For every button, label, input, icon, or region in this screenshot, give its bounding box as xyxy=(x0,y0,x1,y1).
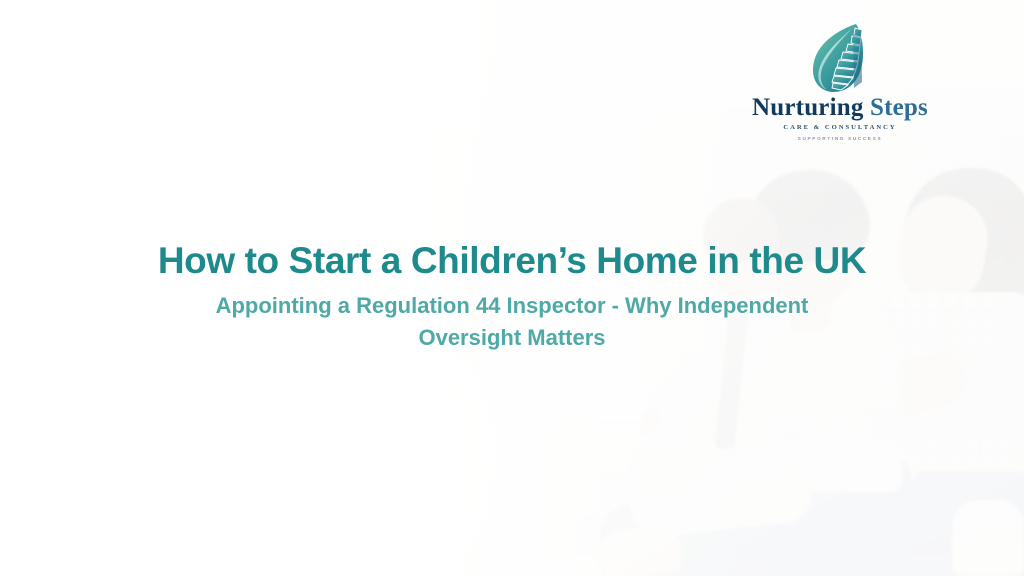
headings-block: How to Start a Children’s Home in the UK… xyxy=(0,240,1024,354)
leaf-staircase-icon xyxy=(726,22,954,94)
page-title: How to Start a Children’s Home in the UK xyxy=(0,240,1024,281)
brand-wordmark-part1: Nurturing xyxy=(752,94,864,121)
slide-canvas: Nurturing Steps CARE & CONSULTANCY SUPPO… xyxy=(0,0,1024,576)
page-subtitle: Appointing a Regulation 44 Inspector - W… xyxy=(167,290,857,354)
brand-tagline: CARE & CONSULTANCY xyxy=(726,124,954,131)
brand-wordmark-part2: Steps xyxy=(870,94,928,121)
brand-sub-tagline: SUPPORTING SUCCESS xyxy=(726,136,954,141)
brand-wordmark: Nurturing Steps xyxy=(726,95,954,120)
brand-logo[interactable]: Nurturing Steps CARE & CONSULTANCY SUPPO… xyxy=(726,22,954,144)
